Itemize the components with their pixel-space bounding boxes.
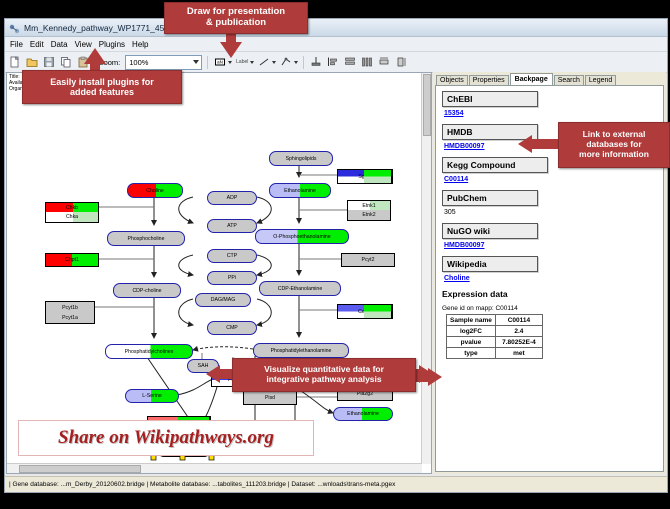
- node-label: Pcyt2: [362, 257, 375, 263]
- tab-backpage[interactable]: Backpage: [510, 73, 553, 85]
- node-cdp-ethanolamine[interactable]: CDP-Ethanolamine: [259, 281, 341, 296]
- callout-plugins-arrow-icon: [84, 48, 106, 64]
- table-cell-value: 7.80252E-4: [495, 337, 542, 348]
- zoom-input[interactable]: 100%: [125, 55, 202, 70]
- node-etnk2[interactable]: Etnk2: [347, 210, 391, 221]
- node-cept1-overlay: [364, 304, 392, 319]
- callout-links: Link to external databases for more info…: [558, 122, 670, 168]
- line-icon[interactable]: [257, 55, 271, 69]
- menu-item-help[interactable]: Help: [132, 40, 148, 49]
- node-ppi[interactable]: PPi: [207, 271, 257, 285]
- db-title-kegg: Kegg Compound: [442, 157, 548, 173]
- svg-text:aN: aN: [217, 60, 223, 65]
- zoom-value: 100%: [129, 58, 148, 67]
- node-phosphocholine[interactable]: Phosphocholine: [107, 231, 185, 246]
- node-adp[interactable]: ADP: [207, 191, 257, 205]
- db-value-pubchem: 305: [444, 209, 657, 216]
- chevron-down-icon[interactable]: [250, 61, 254, 64]
- anchor-icon[interactable]: [279, 55, 293, 69]
- share-banner: Share on Wikipathways.org: [18, 420, 314, 456]
- node-label: Ethanolamine: [347, 411, 379, 417]
- node-label: Ethanolamine: [284, 188, 316, 194]
- gene-id-line: Gene id on mapp: C00114: [442, 305, 657, 312]
- size-width-icon[interactable]: [377, 55, 391, 69]
- node-cdp-choline[interactable]: CDP-choline: [113, 283, 181, 298]
- callout-visualize-line2: integrative pathway analysis: [264, 375, 384, 385]
- chevron-down-icon[interactable]: [272, 61, 276, 64]
- node-label: CMP: [226, 325, 238, 331]
- node-label: Pisd: [265, 395, 275, 401]
- canvas-horizontal-scrollbar[interactable]: [7, 463, 422, 473]
- callout-draw-line2: & publication: [187, 18, 285, 29]
- node-label: PPi: [228, 275, 236, 281]
- callout-plugins: Easily install plugins for added feature…: [22, 70, 182, 104]
- label-tool-text: Label: [236, 59, 248, 65]
- node-label: DAG/MAG: [211, 297, 236, 303]
- callout-links-line3: more information: [579, 150, 649, 160]
- db-title-chebi: ChEBI: [442, 91, 538, 107]
- table-cell-key: pvalue: [447, 337, 496, 348]
- status-bar: | Gene database: ...m_Derby_20120602.bri…: [5, 476, 667, 492]
- callout-plugins-line2: added features: [50, 87, 154, 97]
- node-sphingolipids[interactable]: Sphingolipids: [269, 151, 333, 166]
- table-cell-value: 2.4: [495, 326, 542, 337]
- chevron-down-icon[interactable]: [193, 60, 199, 64]
- anchor-tool-group[interactable]: [279, 55, 298, 69]
- table-row: pvalue 7.80252E-4: [447, 337, 543, 348]
- node-phosphatidylcholines[interactable]: Phosphatidylcholines: [105, 344, 193, 359]
- table-row: log2FC 2.4: [447, 326, 543, 337]
- size-height-icon[interactable]: [394, 55, 408, 69]
- menu-item-file[interactable]: File: [10, 40, 23, 49]
- node-ethanolamine[interactable]: Ethanolamine: [269, 183, 331, 198]
- pathway-canvas[interactable]: Title: Availability: Organism:: [7, 73, 431, 473]
- node-label: Sphingolipids: [286, 156, 317, 162]
- db-title-wikipedia: Wikipedia: [442, 256, 538, 272]
- table-cell-key: log2FC: [447, 326, 496, 337]
- node-label: Chkb: [66, 205, 78, 211]
- node-label: CDP-Ethanolamine: [278, 286, 322, 292]
- node-dag-mag[interactable]: DAG/MAG: [195, 293, 251, 307]
- table-cell-key: Sample name: [447, 315, 496, 326]
- db-link-nugo[interactable]: HMDB00097: [444, 242, 657, 249]
- node-label: Chka: [66, 214, 78, 220]
- pathway-canvas-panel[interactable]: Title: Availability: Organism:: [6, 72, 432, 474]
- stack-icon[interactable]: [343, 55, 357, 69]
- table-cell-value: C00114: [495, 315, 542, 326]
- align-left-icon[interactable]: [326, 55, 340, 69]
- node-label: Phosphocholine: [128, 236, 165, 242]
- node-choline-top[interactable]: Choline: [127, 183, 183, 198]
- db-link-chebi[interactable]: 15354: [444, 110, 657, 117]
- node-pcyt2[interactable]: Pcyt2: [341, 253, 395, 267]
- callout-draw-arrow-icon: [220, 42, 242, 58]
- node-label: Phosphatidylethanolamine: [271, 348, 332, 354]
- node-label: CDP-choline: [132, 288, 161, 294]
- db-title-nugo: NuGO wiki: [442, 223, 538, 239]
- save-icon[interactable]: [42, 55, 56, 69]
- node-label: Phosphatidylcholines: [125, 349, 174, 355]
- menu-item-edit[interactable]: Edit: [30, 40, 44, 49]
- node-chpt1-left[interactable]: Chpt1: [45, 253, 99, 267]
- node-o-phosphoethanolamine[interactable]: O-Phosphoethanolamine: [255, 229, 349, 244]
- copy-icon[interactable]: [59, 55, 73, 69]
- pathvisio-icon: [9, 22, 20, 33]
- new-icon[interactable]: [8, 55, 22, 69]
- tab-search[interactable]: Search: [554, 75, 584, 85]
- toolbar-separator: [207, 56, 208, 69]
- node-ethanolamine-right[interactable]: Ethanolamine: [333, 407, 393, 421]
- node-label: Etnk2: [362, 212, 375, 218]
- node-label: Chpt1: [65, 257, 79, 263]
- callout-visualize-arrow-left-icon: [206, 365, 220, 383]
- callout-links-stem: [532, 139, 560, 149]
- node-ctp[interactable]: CTP: [207, 249, 257, 263]
- node-label: CTP: [227, 253, 237, 259]
- table-cell-value: met: [495, 348, 542, 359]
- node-sgpl1-overlay: [364, 169, 392, 184]
- db-link-kegg[interactable]: C00114: [444, 176, 657, 183]
- canvas-vertical-scrollbar[interactable]: [421, 73, 431, 464]
- open-icon[interactable]: [25, 55, 39, 69]
- callout-expression-arrow-icon: [428, 368, 442, 386]
- title-bar: Mm_Kennedy_pathway_WP1771_45176.gpml: [5, 19, 667, 37]
- node-pcyt1a[interactable]: Pcyt1a: [45, 312, 95, 324]
- menu-item-data[interactable]: Data: [51, 40, 68, 49]
- table-row: Sample name C00114: [447, 315, 543, 326]
- node-label: ADP: [227, 195, 238, 201]
- node-label: ATP: [227, 223, 237, 229]
- chevron-down-icon[interactable]: [294, 61, 298, 64]
- toolbar-separator: [303, 56, 304, 69]
- scrollbar-thumb[interactable]: [423, 74, 431, 136]
- table-cell-key: type: [447, 348, 496, 359]
- expression-table: Sample name C00114 log2FC 2.4 pvalue 7.8…: [446, 314, 543, 359]
- side-panel-tabs: Objects Properties Backpage Search Legen…: [433, 72, 666, 85]
- callout-links-arrow-icon: [518, 135, 532, 153]
- db-title-pubchem: PubChem: [442, 190, 538, 206]
- node-pisd[interactable]: Pisd: [243, 391, 297, 405]
- node-l-serine-left[interactable]: L-Serine: [125, 389, 179, 403]
- node-label: Choline: [146, 188, 164, 194]
- screenshot-root: Mm_Kennedy_pathway_WP1771_45176.gpml Fil…: [0, 0, 670, 509]
- node-phosphatidylethanolamine[interactable]: Phosphatidylethanolamine: [253, 343, 349, 358]
- node-chka[interactable]: Chka: [45, 212, 99, 223]
- node-label: L-Serine: [142, 393, 162, 399]
- expression-data-heading: Expression data: [442, 289, 657, 299]
- node-label: Pcyt1a: [62, 315, 78, 321]
- scrollbar-thumb[interactable]: [19, 465, 141, 473]
- align-top-icon[interactable]: [309, 55, 323, 69]
- tab-properties[interactable]: Properties: [469, 75, 509, 85]
- node-cmp[interactable]: CMP: [207, 321, 257, 335]
- node-label: Pcyt1b: [62, 305, 78, 311]
- table-row: type met: [447, 348, 543, 359]
- node-atp[interactable]: ATP: [207, 219, 257, 233]
- callout-draw: Draw for presentation & publication: [164, 2, 308, 34]
- tab-legend[interactable]: Legend: [585, 75, 616, 85]
- db-link-wikipedia[interactable]: Choline: [444, 275, 657, 282]
- share-banner-text: Share on Wikipathways.org: [58, 427, 274, 449]
- node-label: O-Phosphoethanolamine: [273, 234, 330, 240]
- status-bar-text: | Gene database: ...m_Derby_20120602.bri…: [9, 481, 395, 488]
- callout-visualize: Visualize quantitative data for integrat…: [232, 358, 416, 392]
- chevron-down-icon[interactable]: [228, 61, 232, 64]
- distribute-icon[interactable]: [360, 55, 374, 69]
- callout-plugins-line1: Easily install plugins for: [50, 77, 154, 87]
- line-tool-group[interactable]: [257, 55, 276, 69]
- tab-objects[interactable]: Objects: [436, 75, 468, 85]
- node-label: Etnk1: [362, 203, 375, 209]
